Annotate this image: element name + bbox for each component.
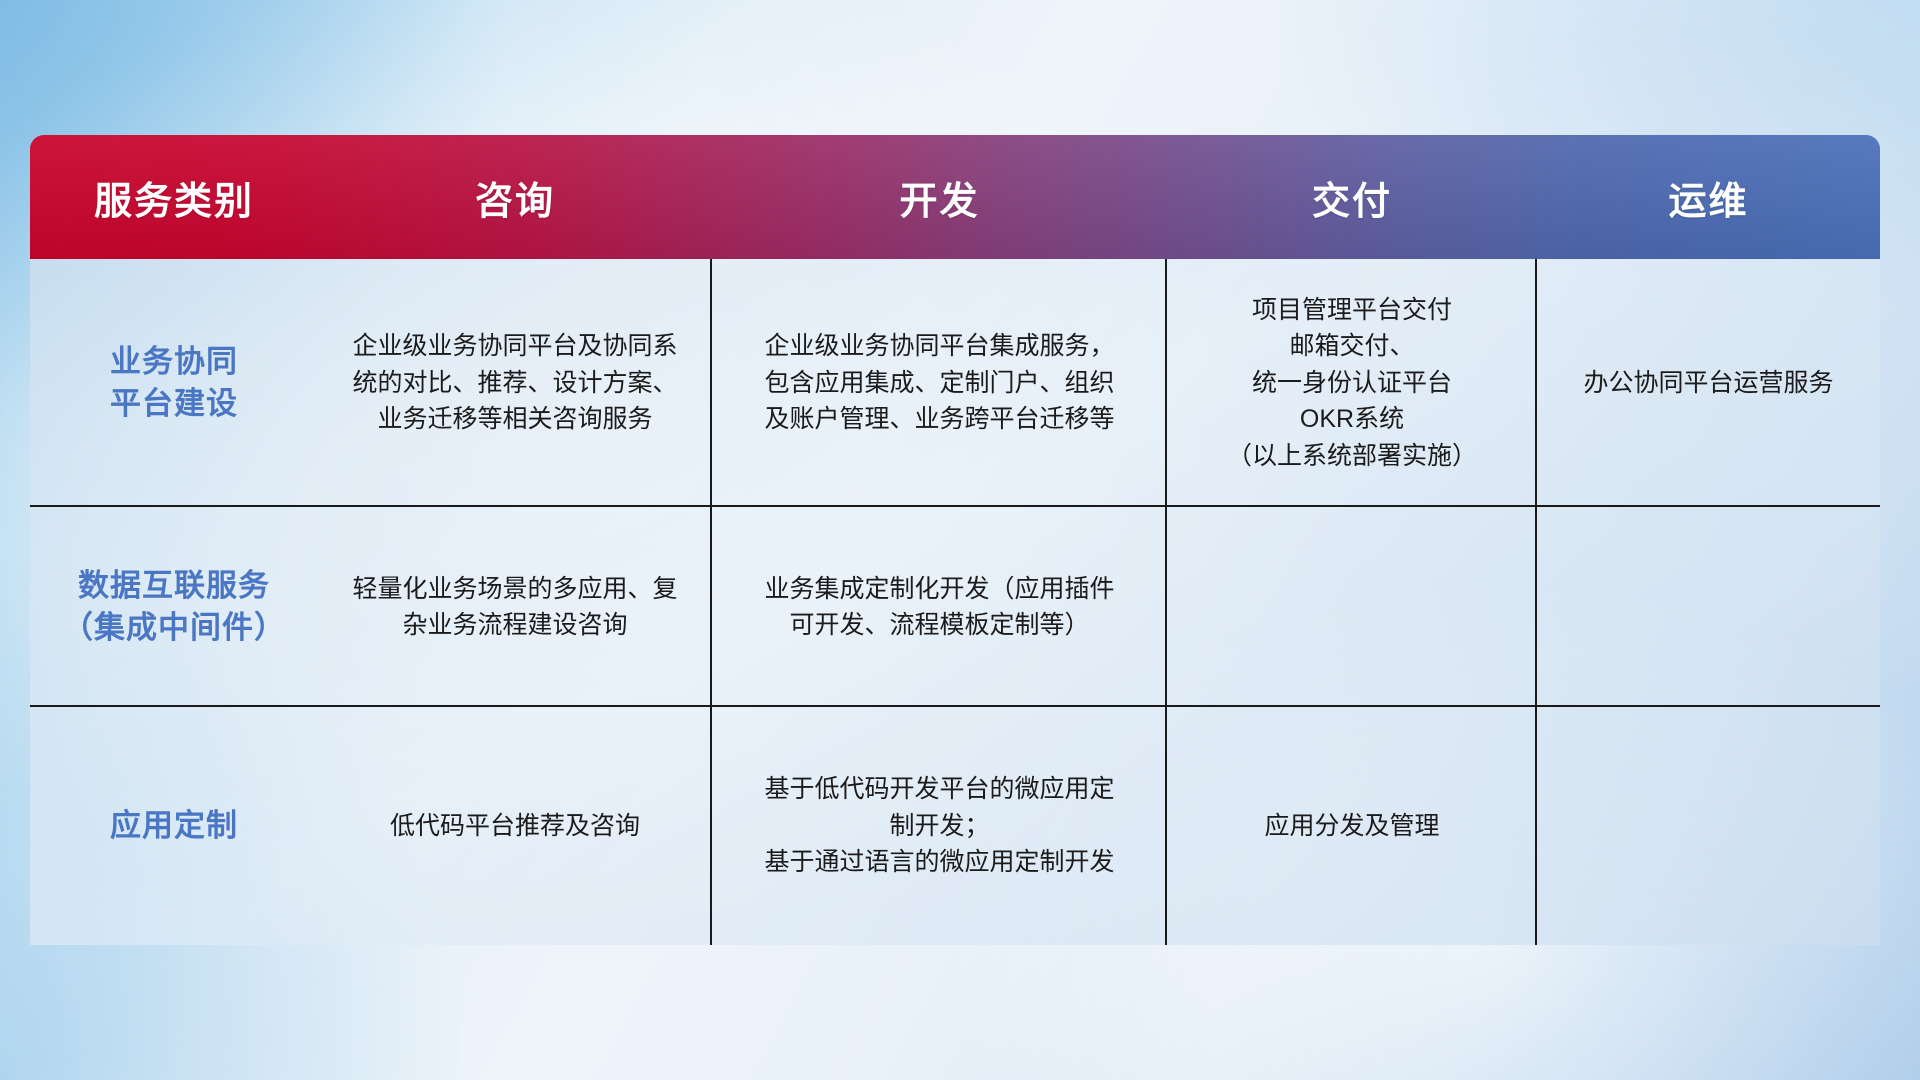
table-row: 数据互联服务 （集成中间件） 轻量化业务场景的多应用、复 杂业务流程建设咨询 业… xyxy=(30,507,1880,707)
row-delivery-cell xyxy=(1167,507,1537,707)
row-category-label: 应用定制 xyxy=(110,805,238,847)
column-header-operations: 运维 xyxy=(1537,170,1880,225)
column-header-category: 服务类别 xyxy=(30,170,318,225)
table-header-row: 服务类别 咨询 开发 交付 运维 xyxy=(30,135,1880,259)
row-category-cell: 应用定制 xyxy=(30,707,318,945)
row-consulting-cell: 轻量化业务场景的多应用、复 杂业务流程建设咨询 xyxy=(318,507,712,707)
cell-text: 业务集成定制化开发（应用插件 可开发、流程模板定制等） xyxy=(764,571,1114,644)
row-category-cell: 数据互联服务 （集成中间件） xyxy=(30,507,318,707)
row-development-cell: 基于低代码开发平台的微应用定 制开发； 基于通过语言的微应用定制开发 xyxy=(712,707,1167,945)
row-development-cell: 企业级业务协同平台集成服务， 包含应用集成、定制门户、组织 及账户管理、业务跨平… xyxy=(712,259,1167,507)
cell-text: 项目管理平台交付 邮箱交付、 统一身份认证平台 OKR系统 （以上系统部署实施） xyxy=(1227,292,1477,475)
table-body: 业务协同 平台建设 企业级业务协同平台及协同系 统的对比、推荐、设计方案、 业务… xyxy=(30,259,1880,945)
row-development-cell: 业务集成定制化开发（应用插件 可开发、流程模板定制等） xyxy=(712,507,1167,707)
table-row: 业务协同 平台建设 企业级业务协同平台及协同系 统的对比、推荐、设计方案、 业务… xyxy=(30,259,1880,507)
column-header-delivery: 交付 xyxy=(1167,170,1537,225)
service-matrix-table: 服务类别 咨询 开发 交付 运维 业务协同 平台建设 企业级业务协同平台及协同系… xyxy=(30,135,1880,945)
row-operations-cell xyxy=(1537,507,1880,707)
column-header-consulting: 咨询 xyxy=(318,170,712,225)
cell-text: 应用分发及管理 xyxy=(1264,808,1439,845)
row-category-cell: 业务协同 平台建设 xyxy=(30,259,318,507)
row-operations-cell: 办公协同平台运营服务 xyxy=(1537,259,1880,507)
cell-text: 低代码平台推荐及咨询 xyxy=(390,808,640,845)
row-delivery-cell: 项目管理平台交付 邮箱交付、 统一身份认证平台 OKR系统 （以上系统部署实施） xyxy=(1167,259,1537,507)
cell-text: 企业级业务协同平台集成服务， 包含应用集成、定制门户、组织 及账户管理、业务跨平… xyxy=(764,328,1114,438)
cell-text: 办公协同平台运营服务 xyxy=(1583,365,1833,402)
row-operations-cell xyxy=(1537,707,1880,945)
cell-text: 基于低代码开发平台的微应用定 制开发； 基于通过语言的微应用定制开发 xyxy=(764,771,1114,881)
row-category-label: 数据互联服务 （集成中间件） xyxy=(62,565,286,648)
row-consulting-cell: 低代码平台推荐及咨询 xyxy=(318,707,712,945)
cell-text: 轻量化业务场景的多应用、复 杂业务流程建设咨询 xyxy=(352,571,677,644)
cell-text: 企业级业务协同平台及协同系 统的对比、推荐、设计方案、 业务迁移等相关咨询服务 xyxy=(352,328,677,438)
table-row: 应用定制 低代码平台推荐及咨询 基于低代码开发平台的微应用定 制开发； 基于通过… xyxy=(30,707,1880,945)
row-delivery-cell: 应用分发及管理 xyxy=(1167,707,1537,945)
row-consulting-cell: 企业级业务协同平台及协同系 统的对比、推荐、设计方案、 业务迁移等相关咨询服务 xyxy=(318,259,712,507)
column-header-development: 开发 xyxy=(712,170,1167,225)
row-category-label: 业务协同 平台建设 xyxy=(110,341,238,424)
